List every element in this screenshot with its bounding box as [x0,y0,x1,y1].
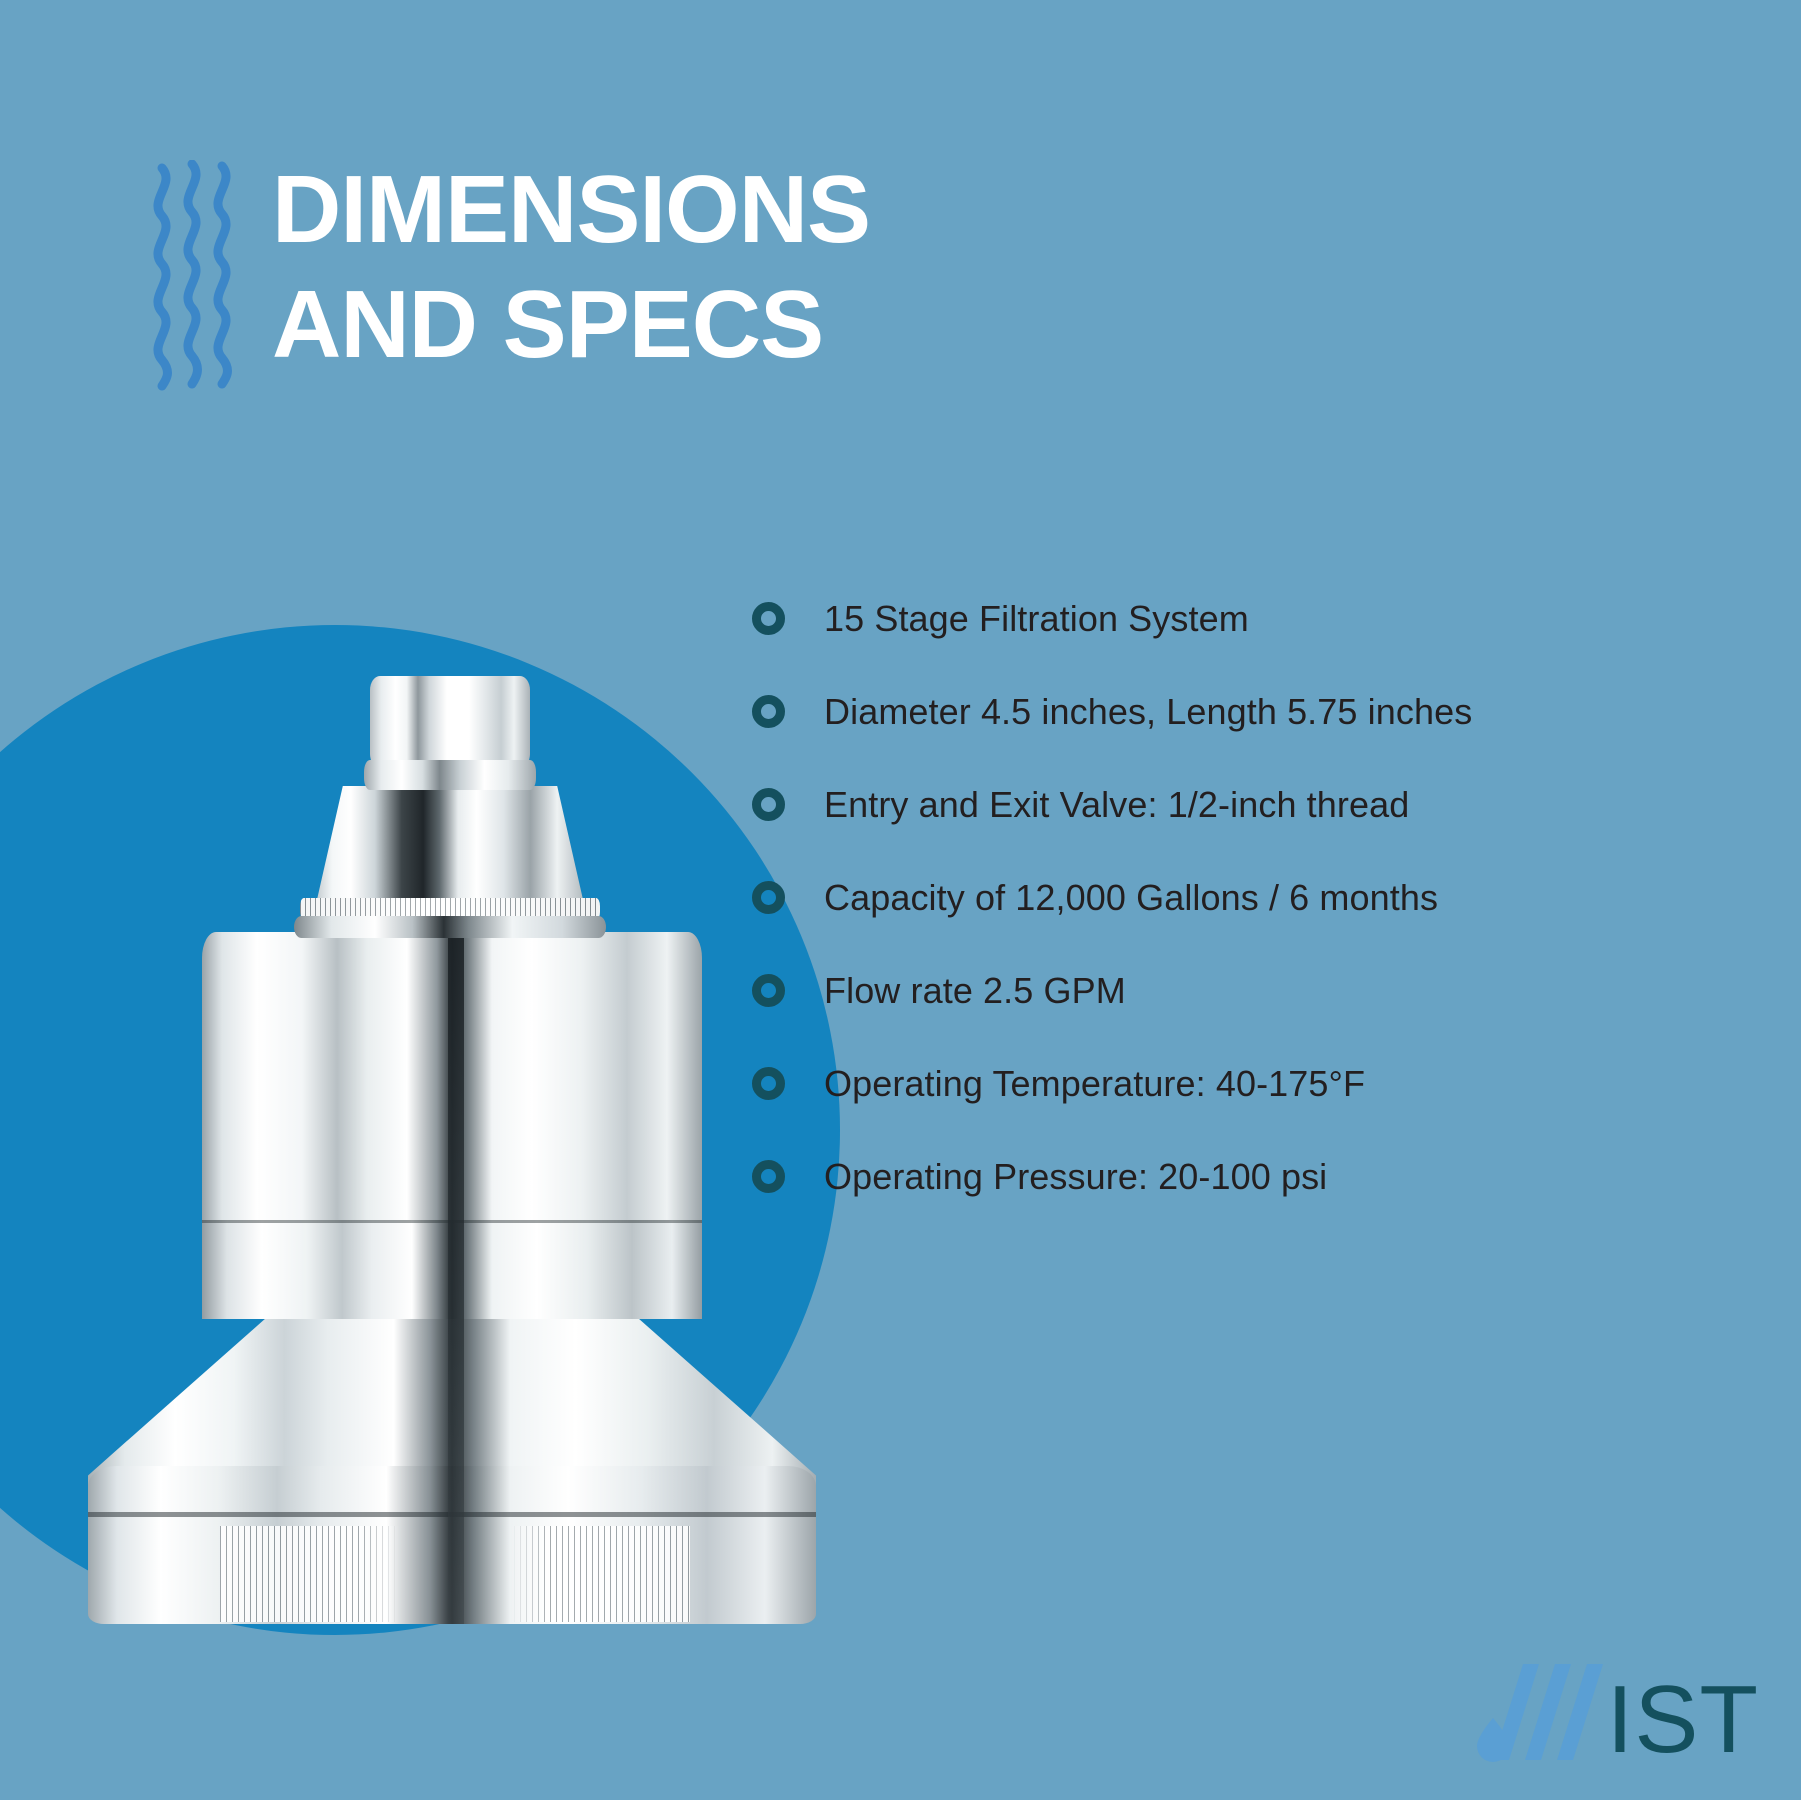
page-title: DIMENSIONS AND SPECS [272,152,1272,382]
list-item: Capacity of 12,000 Gallons / 6 months [752,851,1782,944]
ring-bullet-icon [752,602,785,635]
water-waves-icon [150,160,236,392]
list-item: Entry and Exit Valve: 1/2-inch thread [752,758,1782,851]
ring-bullet-icon [752,1160,785,1193]
spec-label: Diameter 4.5 inches, Length 5.75 inches [824,691,1472,733]
ring-bullet-icon [752,1067,785,1100]
product-hex-nut [370,676,530,768]
ring-bullet-icon [752,881,785,914]
ring-bullet-icon [752,974,785,1007]
mist-logo: IST [1473,1658,1759,1762]
specs-list: 15 Stage Filtration System Diameter 4.5 … [752,572,1782,1223]
ring-bullet-icon [752,695,785,728]
water-drop-and-bars-icon [1473,1658,1603,1762]
spec-label: Operating Temperature: 40-175°F [824,1063,1365,1105]
logo-wordmark: IST [1607,1679,1759,1762]
list-item: 15 Stage Filtration System [752,572,1782,665]
page-title-line-2: AND SPECS [272,267,1272,382]
list-item: Diameter 4.5 inches, Length 5.75 inches [752,665,1782,758]
infographic-canvas: DIMENSIONS AND SPECS 15 Stage Filtration… [0,0,1801,1800]
list-item: Operating Pressure: 20-100 psi [752,1130,1782,1223]
page-title-line-1: DIMENSIONS [272,152,1272,267]
spec-label: 15 Stage Filtration System [824,598,1249,640]
spec-label: Capacity of 12,000 Gallons / 6 months [824,877,1438,919]
list-item: Operating Temperature: 40-175°F [752,1037,1782,1130]
product-nut-collar [364,760,536,790]
spec-label: Operating Pressure: 20-100 psi [824,1156,1327,1198]
product-seam [448,932,464,1624]
list-item: Flow rate 2.5 GPM [752,944,1782,1037]
ring-bullet-icon [752,788,785,821]
spec-label: Entry and Exit Valve: 1/2-inch thread [824,784,1409,826]
chrome-shower-head-filter-photo [70,660,830,1800]
spec-label: Flow rate 2.5 GPM [824,970,1126,1012]
product-cone [316,786,584,904]
product-knurled-lip [294,916,606,938]
